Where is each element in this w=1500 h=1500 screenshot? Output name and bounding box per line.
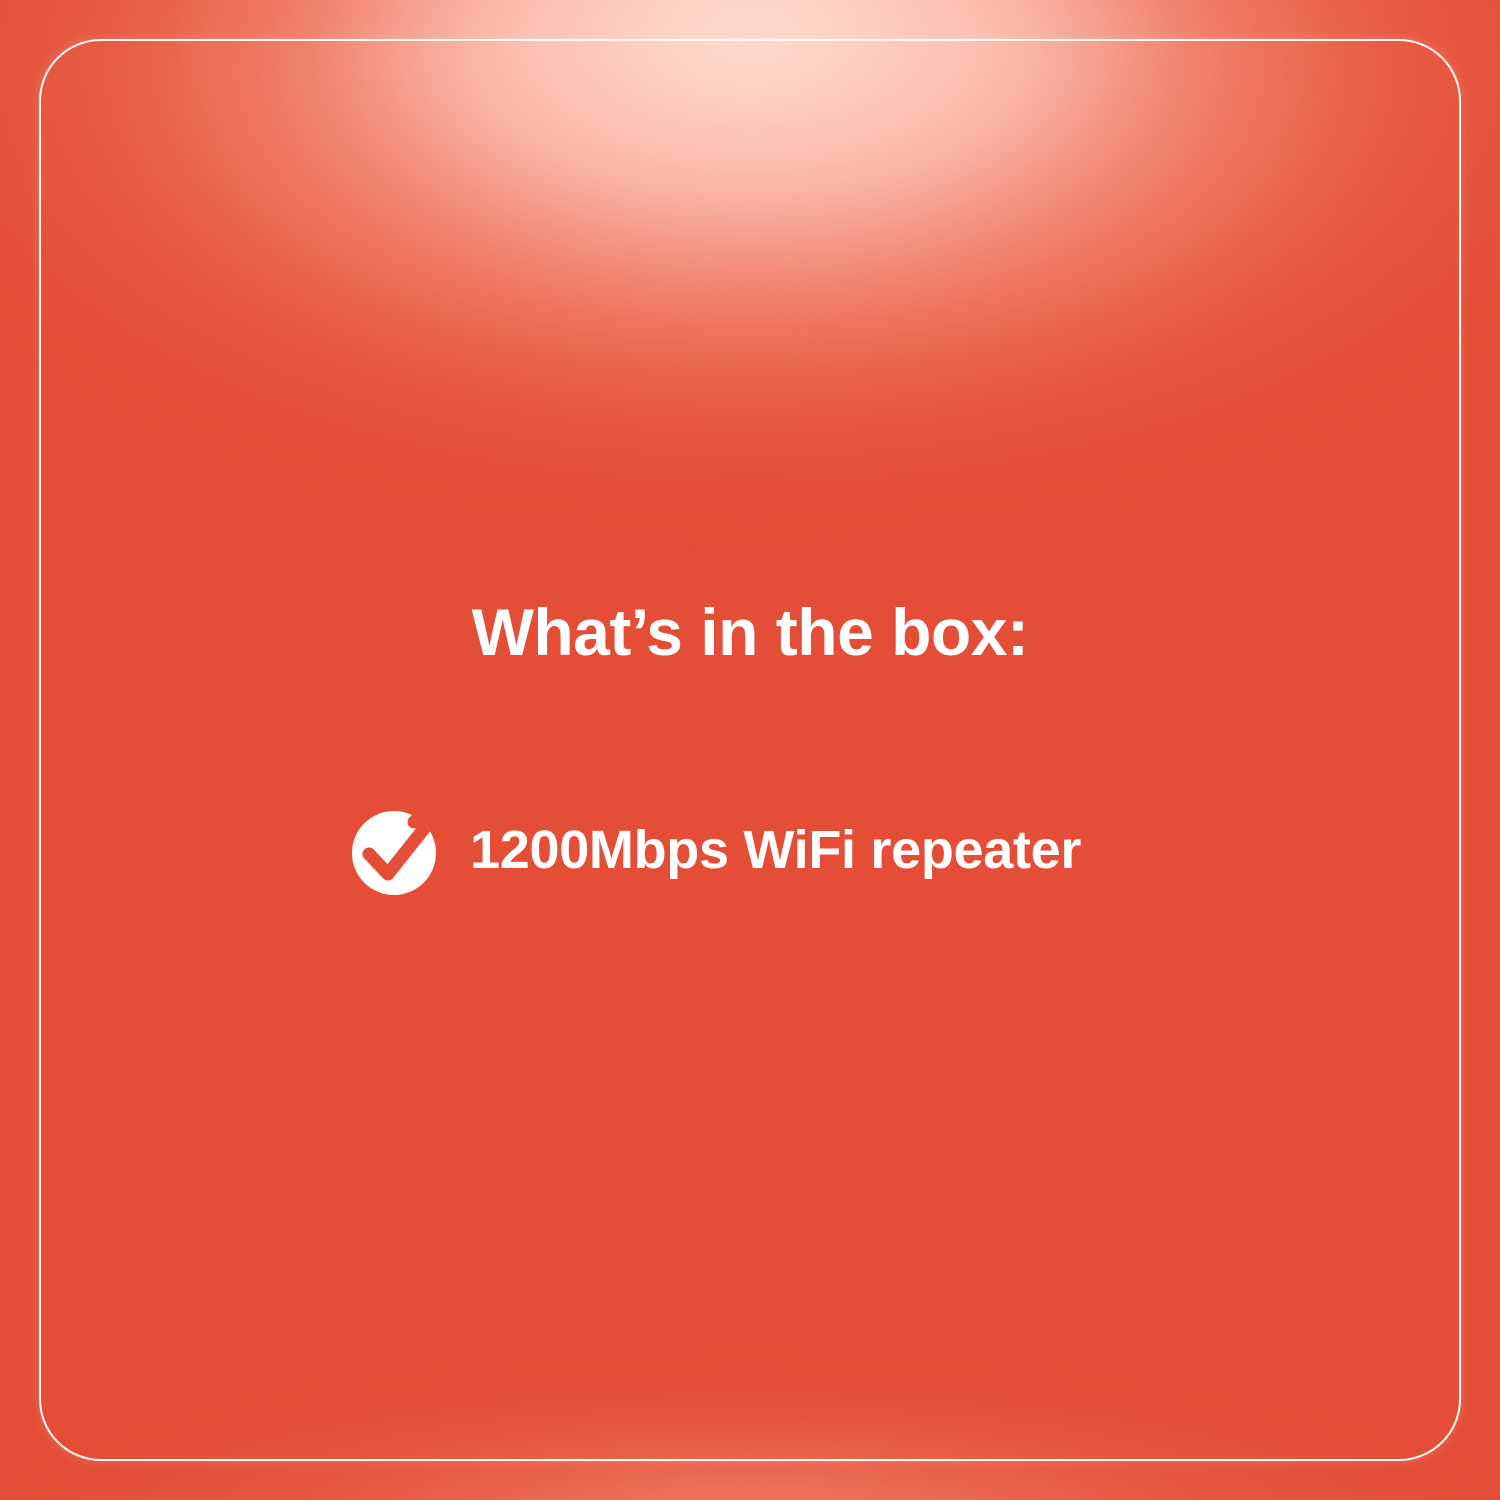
- poster-content: What’s in the box:: [0, 0, 1500, 1500]
- list-item: 1200Mbps WiFi repeater: [352, 806, 1352, 896]
- whats-in-the-box-poster: What’s in the box:: [0, 0, 1500, 1500]
- check-circle-icon: [352, 806, 438, 896]
- list-item-label: 1200Mbps WiFi repeater: [470, 821, 1081, 880]
- page-title: What’s in the box:: [0, 596, 1500, 669]
- box-contents-list: 1200Mbps WiFi repeater: [352, 806, 1352, 896]
